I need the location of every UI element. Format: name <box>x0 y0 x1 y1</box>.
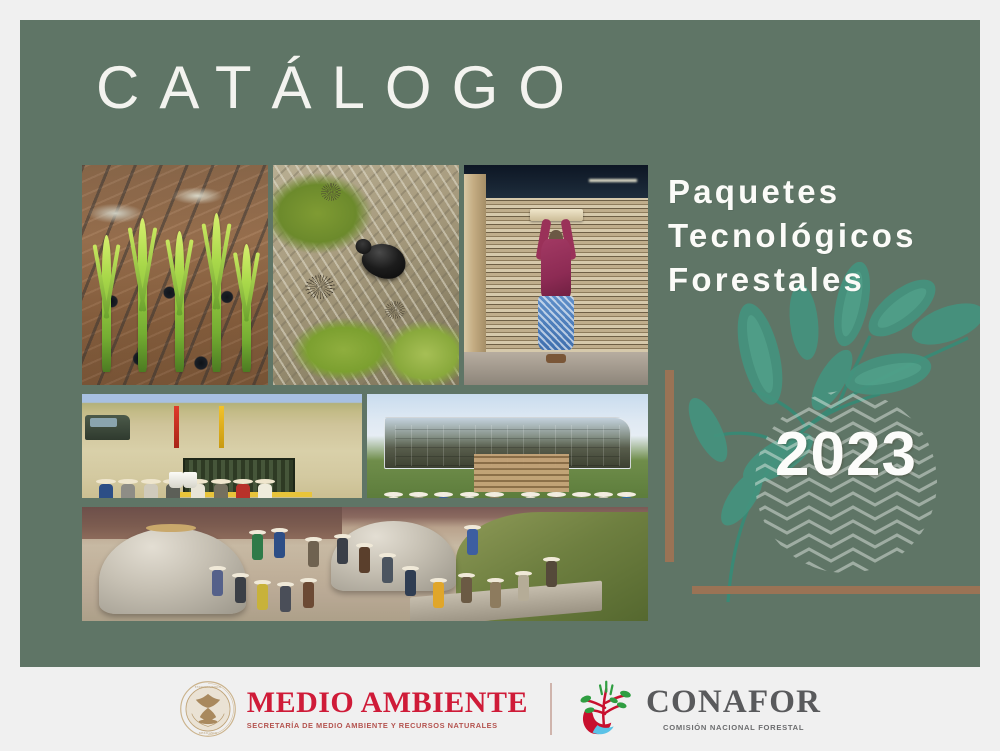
seedling <box>138 218 147 372</box>
photo-people-in-front-of-shadehouse <box>367 394 648 498</box>
body <box>144 484 158 498</box>
cactus-spine-tuft <box>385 301 405 319</box>
conafor-subtitle: COMISIÓN NACIONAL FORESTAL <box>646 723 821 732</box>
svg-text:ESTADOS UNIDOS: ESTADOS UNIDOS <box>195 685 222 689</box>
conafor-text: CONAFOR COMISIÓN NACIONAL FORESTAL <box>646 686 821 732</box>
cactus-spine-tuft <box>321 183 341 201</box>
medio-ambiente-subtitle: SECRETARÍA DE MEDIO AMBIENTE Y RECURSOS … <box>247 721 528 730</box>
body <box>488 497 501 498</box>
photo-collage <box>82 165 648 626</box>
cactus-spine-tuft <box>305 275 335 299</box>
pickup-truck <box>85 415 130 440</box>
body <box>235 577 246 603</box>
body <box>575 497 588 498</box>
body <box>252 534 263 560</box>
collage-row-2 <box>82 394 648 498</box>
body <box>308 541 319 567</box>
conafor-tree-water-mark-icon <box>574 678 636 740</box>
body <box>236 484 250 498</box>
body <box>546 561 557 587</box>
medio-ambiente-title: MEDIO AMBIENTE <box>247 688 528 719</box>
body <box>274 532 285 558</box>
body <box>382 557 393 583</box>
body <box>524 497 537 498</box>
body <box>303 582 314 608</box>
body <box>437 497 450 498</box>
collage-row-3 <box>82 507 648 621</box>
photo-crowd-around-charcoal-kilns <box>82 507 648 621</box>
body <box>490 582 501 608</box>
subtitle-line-3: Forestales <box>668 258 917 302</box>
body <box>405 570 416 596</box>
seedling <box>175 231 184 372</box>
page-title: CATÁLOGO <box>96 58 585 118</box>
skirt <box>538 296 573 351</box>
body <box>257 584 268 610</box>
body <box>550 497 563 498</box>
seedling <box>242 244 251 372</box>
body <box>518 575 529 601</box>
logo-divider <box>550 683 552 735</box>
seedling <box>102 235 111 371</box>
body <box>412 497 425 498</box>
body <box>337 538 348 564</box>
seedling <box>212 213 221 371</box>
photo-woman-stacking-sawn-timber <box>464 165 648 385</box>
mexican-eagle-seal-icon: ESTADOS UNIDOS MEXICANOS <box>179 680 237 738</box>
workshop-ceiling <box>464 165 648 202</box>
conafor-title: CONAFOR <box>646 686 821 719</box>
worker-figure <box>538 222 575 358</box>
body <box>387 497 400 498</box>
cover-year: 2023 <box>755 424 937 486</box>
brown-vertical-bar <box>665 370 674 562</box>
collage-row-1 <box>82 165 648 385</box>
red-marker-pole <box>174 406 179 448</box>
brown-horizontal-bar <box>692 586 980 594</box>
wooden-pallets <box>474 454 570 491</box>
body <box>359 547 370 573</box>
body <box>597 497 610 498</box>
footer-logos: ESTADOS UNIDOS MEXICANOS MEDIO AMBIENTE … <box>0 667 1000 751</box>
cover-panel: CATÁLOGO <box>20 20 980 667</box>
body <box>212 570 223 596</box>
photo-pine-seedlings-in-nursery-trays <box>82 165 268 385</box>
medio-ambiente-logo: ESTADOS UNIDOS MEXICANOS MEDIO AMBIENTE … <box>179 680 528 738</box>
medio-ambiente-text: MEDIO AMBIENTE SECRETARÍA DE MEDIO AMBIE… <box>247 688 528 731</box>
body <box>620 497 633 498</box>
body <box>280 586 291 612</box>
cover-subtitle: Paquetes Tecnológicos Forestales <box>668 170 917 302</box>
body <box>433 582 444 608</box>
cover-page: CATÁLOGO <box>0 0 1000 751</box>
white-bucket <box>183 472 197 488</box>
body <box>461 577 472 603</box>
body <box>467 529 478 555</box>
photo-image <box>273 165 459 385</box>
photo-group-with-seedling-crates-at-field-site <box>82 394 362 498</box>
carried-board <box>530 209 584 221</box>
photo-cactus-with-black-beetle-pest <box>273 165 459 385</box>
svg-text:MEXICANOS: MEXICANOS <box>198 731 217 735</box>
body <box>121 484 135 498</box>
body <box>463 497 476 498</box>
subtitle-line-1: Paquetes <box>668 170 917 214</box>
white-bucket <box>169 472 183 488</box>
body <box>99 484 113 498</box>
yellow-marker-pole <box>219 406 224 448</box>
body <box>214 484 228 498</box>
torso <box>541 239 572 299</box>
body <box>258 484 272 498</box>
conafor-logo: CONAFOR COMISIÓN NACIONAL FORESTAL <box>574 678 821 740</box>
subtitle-line-2: Tecnológicos <box>668 214 917 258</box>
background-building <box>82 507 342 539</box>
feet <box>546 354 565 362</box>
